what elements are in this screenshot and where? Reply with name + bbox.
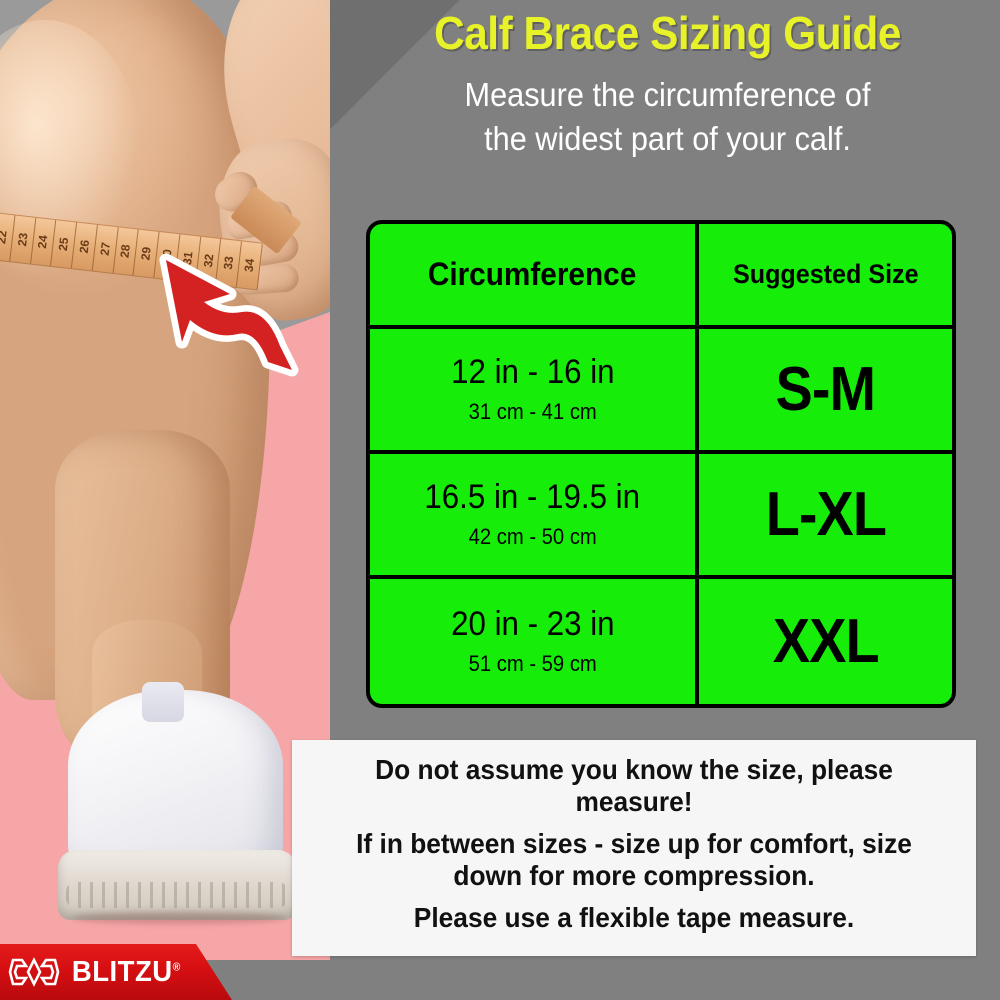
notice-line-2: If in between sizes - size up for comfor… (329, 828, 938, 893)
value-size: L-XL (765, 484, 885, 546)
cell-circumference: 20 in - 23 in 51 cm - 59 cm (370, 579, 699, 704)
value-size: XXL (772, 611, 878, 673)
brand-name-text: BLITZU (72, 956, 173, 988)
value-inches: 16.5 in - 19.5 in (425, 479, 641, 516)
table-row: 20 in - 23 in 51 cm - 59 cm XXL (370, 579, 952, 704)
column-header-label: Suggested Size (733, 259, 919, 290)
cell-suggested-size: XXL (699, 579, 952, 704)
sneaker (58, 690, 298, 940)
notice-line-3: Please use a flexible tape measure. (329, 902, 938, 934)
tape-number: 27 (97, 241, 112, 256)
cell-suggested-size: S-M (699, 329, 952, 450)
sizing-table: Circumference Suggested Size 12 in - 16 … (366, 220, 956, 708)
notice-box: Do not assume you know the size, please … (292, 740, 976, 956)
tape-number: 23 (15, 232, 30, 247)
tape-number: 24 (35, 234, 50, 249)
value-inches: 20 in - 23 in (451, 606, 614, 643)
value-centimeters: 42 cm - 50 cm (468, 524, 596, 550)
tape-number: 22 (0, 230, 10, 245)
notice-line-1: Do not assume you know the size, please … (329, 754, 938, 819)
subtitle-line-2: the widest part of your calf. (363, 117, 972, 162)
tape-number: 25 (56, 237, 71, 252)
table-row: 12 in - 16 in 31 cm - 41 cm S-M (370, 329, 952, 454)
calf-measurement-photo: 22 23 24 25 26 27 28 29 30 31 32 33 34 (0, 0, 330, 960)
cell-circumference: 12 in - 16 in 31 cm - 41 cm (370, 329, 699, 450)
header: Calf Brace Sizing Guide Measure the circ… (340, 8, 995, 162)
page-title: Calf Brace Sizing Guide (366, 8, 969, 59)
table-header-row: Circumference Suggested Size (370, 224, 952, 329)
table-header-suggested-size: Suggested Size (699, 224, 952, 325)
value-centimeters: 31 cm - 41 cm (468, 399, 596, 425)
shoe-tread (66, 882, 288, 908)
brand-logo: BLITZU® (0, 944, 232, 1000)
tape-number: 26 (77, 239, 92, 254)
cell-circumference: 16.5 in - 19.5 in 42 cm - 50 cm (370, 454, 699, 575)
brand-name: BLITZU® (72, 956, 181, 989)
value-centimeters: 51 cm - 59 cm (468, 651, 596, 677)
cell-suggested-size: L-XL (699, 454, 952, 575)
subtitle-line-1: Measure the circumference of (363, 73, 972, 118)
sizing-guide-infographic: 22 23 24 25 26 27 28 29 30 31 32 33 34 (0, 0, 1000, 1000)
value-inches: 12 in - 16 in (451, 354, 614, 391)
value-size: S-M (776, 359, 876, 421)
table-row: 16.5 in - 19.5 in 42 cm - 50 cm L-XL (370, 454, 952, 579)
table-header-circumference: Circumference (370, 224, 699, 325)
shoe-shadow (72, 912, 286, 924)
page-subtitle: Measure the circumference of the widest … (363, 73, 972, 162)
measurement-arrow-icon (130, 250, 300, 380)
column-header-label: Circumference (428, 256, 636, 293)
registered-trademark-icon: ® (173, 961, 181, 973)
shoe-tongue (142, 682, 184, 722)
blitzu-emblem-icon (8, 956, 60, 988)
